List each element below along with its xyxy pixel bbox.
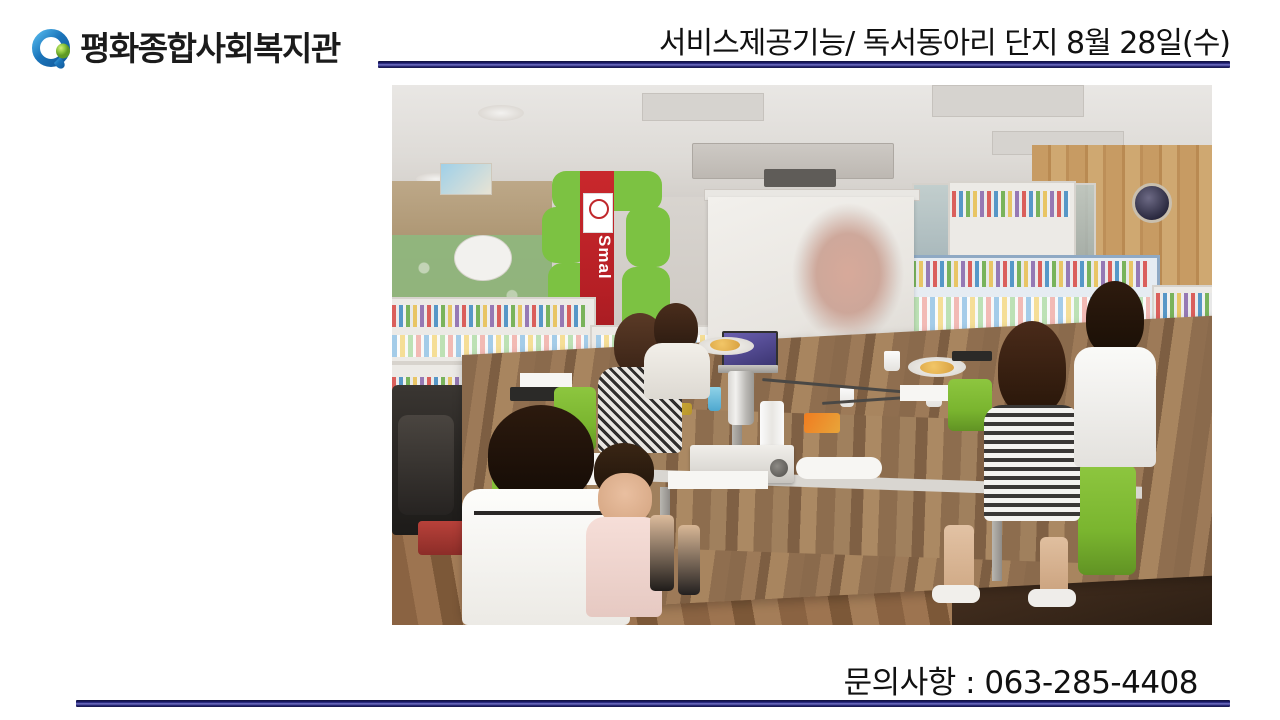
book-row — [952, 191, 1070, 217]
sofa-arm — [398, 415, 454, 515]
no-smoking-icon — [583, 193, 613, 233]
ceiling-light — [478, 105, 524, 121]
organization-name: 평화종합사회복지관 — [80, 26, 340, 72]
snack-bag — [804, 413, 840, 433]
oval-wall-sign — [454, 235, 512, 281]
projector-lens — [770, 459, 788, 477]
green-chair — [1078, 465, 1136, 575]
footer-divider-rule — [76, 700, 1230, 707]
remote-control — [952, 351, 992, 361]
photo-scene: Smal 신간도서 니터왔든 글씨 사람 — [392, 85, 1212, 625]
snacks — [920, 361, 954, 374]
ceiling-projector — [764, 169, 836, 187]
program-photo: Smal 신간도서 니터왔든 글씨 사람 — [392, 85, 1212, 625]
paper-cup — [840, 387, 854, 407]
peace-circle-logo-icon — [30, 26, 76, 72]
banner-label: Smal — [580, 235, 614, 280]
book-row — [392, 305, 588, 327]
projector-mat — [668, 471, 768, 489]
ceiling-panel — [932, 85, 1084, 117]
organization-logo: 평화종합사회복지관 — [30, 24, 340, 74]
white-bag — [796, 457, 882, 479]
wall-clock — [1132, 183, 1172, 223]
wall-poster — [440, 163, 492, 195]
ceiling-panel — [642, 93, 764, 121]
paper-cup — [884, 351, 900, 371]
header-divider-rule — [378, 61, 1230, 68]
thermos-flask — [728, 371, 754, 425]
contact-info: 문의사항 : 063-285-4408 — [844, 657, 1198, 702]
snacks — [710, 339, 740, 351]
slide-title: 서비스제공기능/ 독서동아리 단지 8월 28일(수) — [659, 18, 1230, 62]
slide-header: 평화종합사회복지관 서비스제공기능/ 독서동아리 단지 8월 28일(수) — [0, 0, 1280, 82]
